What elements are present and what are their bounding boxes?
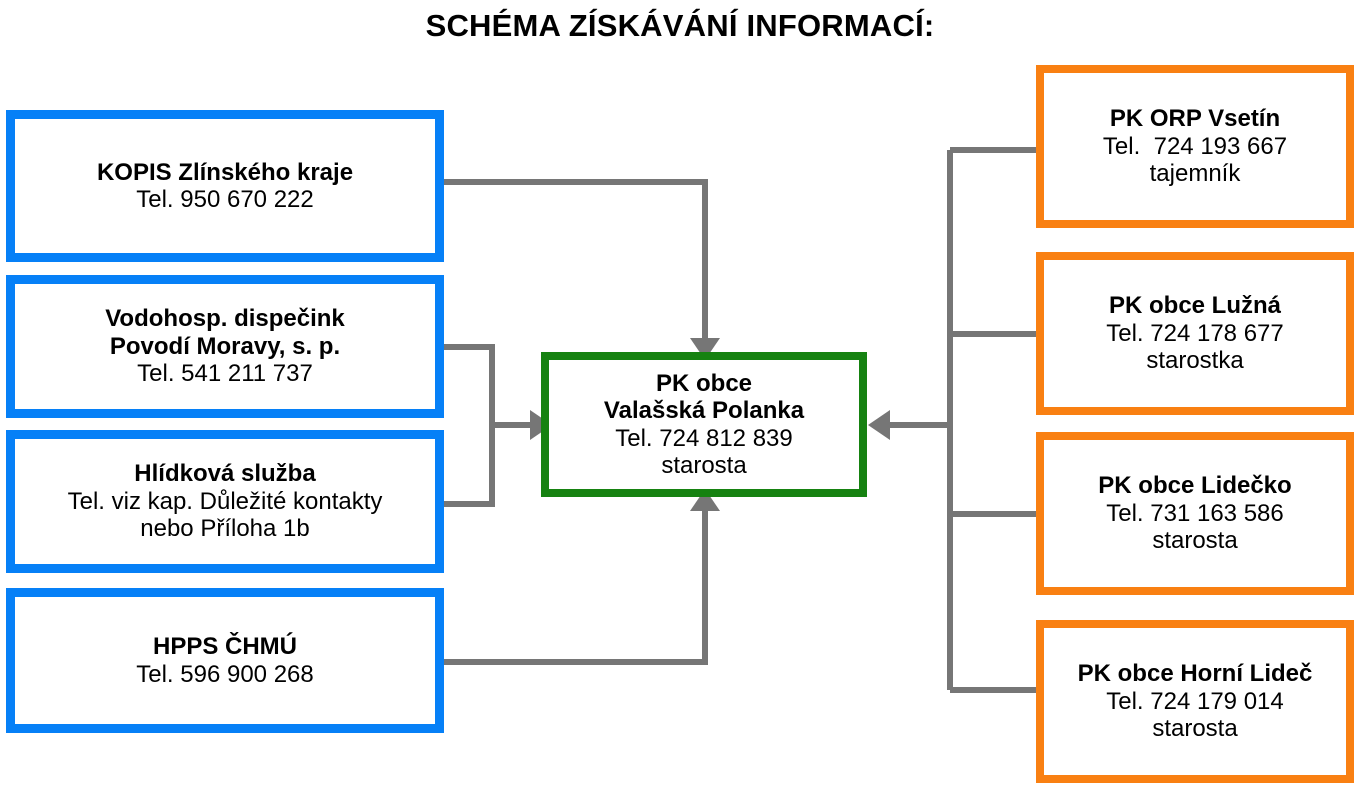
connector-hlidkova-to-bus: [444, 425, 492, 504]
node-vodohosp-title-line2: Povodí Moravy, s. p.: [110, 333, 340, 360]
node-hornilidec-phone: Tel. 724 179 014: [1106, 688, 1283, 715]
connector-vodohosp-to-bus: [444, 347, 492, 425]
diagram-canvas: SCHÉMA ZÍSKÁVÁNÍ INFORMACÍ:: [0, 0, 1360, 787]
node-vsetin-phone: Tel. 724 193 667: [1103, 133, 1287, 160]
node-vsetin-role: tajemník: [1150, 160, 1241, 187]
node-kopis[interactable]: KOPIS Zlínského kraje Tel. 950 670 222: [6, 110, 444, 262]
node-center-title-line1: PK obce: [656, 370, 752, 397]
node-hlidkova[interactable]: Hlídková služba Tel. viz kap. Důležité k…: [6, 430, 444, 573]
node-hlidkova-phone-line1: Tel. viz kap. Důležité kontakty: [68, 488, 383, 515]
node-hpps-phone: Tel. 596 900 268: [136, 661, 313, 688]
page-title: SCHÉMA ZÍSKÁVÁNÍ INFORMACÍ:: [0, 8, 1360, 44]
node-lidecko-phone: Tel. 731 163 586: [1106, 500, 1283, 527]
node-lidecko[interactable]: PK obce Lidečko Tel. 731 163 586 starost…: [1036, 432, 1354, 595]
connector-hpps-to-center: [444, 511, 705, 662]
node-luzna[interactable]: PK obce Lužná Tel. 724 178 677 starostka: [1036, 252, 1354, 415]
node-hpps-title: HPPS ČHMÚ: [153, 633, 297, 660]
node-hornilidec[interactable]: PK obce Horní Lideč Tel. 724 179 014 sta…: [1036, 620, 1354, 783]
node-hlidkova-phone-line2: nebo Příloha 1b: [140, 515, 309, 542]
node-hornilidec-title: PK obce Horní Lideč: [1078, 660, 1313, 687]
node-luzna-title: PK obce Lužná: [1109, 292, 1281, 319]
node-lidecko-title: PK obce Lidečko: [1098, 472, 1291, 499]
node-vsetin[interactable]: PK ORP Vsetín Tel. 724 193 667 tajemník: [1036, 65, 1354, 228]
node-luzna-phone: Tel. 724 178 677: [1106, 320, 1283, 347]
node-center-role: starosta: [661, 452, 746, 479]
node-hlidkova-title: Hlídková služba: [134, 460, 315, 487]
node-center-valasska-polanka[interactable]: PK obce Valašská Polanka Tel. 724 812 83…: [541, 352, 867, 497]
node-kopis-phone: Tel. 950 670 222: [136, 186, 313, 213]
node-vodohosp-phone: Tel. 541 211 737: [137, 360, 313, 387]
node-vodohosp-title-line1: Vodohosp. dispečink: [105, 305, 345, 332]
node-vodohosp[interactable]: Vodohosp. dispečink Povodí Moravy, s. p.…: [6, 275, 444, 418]
node-hornilidec-role: starosta: [1152, 715, 1237, 742]
node-hpps[interactable]: HPPS ČHMÚ Tel. 596 900 268: [6, 588, 444, 733]
node-lidecko-role: starosta: [1152, 527, 1237, 554]
node-vsetin-title: PK ORP Vsetín: [1110, 105, 1280, 132]
arrowhead-right-into-center: [868, 410, 890, 440]
node-center-phone: Tel. 724 812 839: [615, 425, 792, 452]
connector-kopis-to-center: [444, 182, 705, 338]
node-luzna-role: starostka: [1146, 347, 1243, 374]
node-kopis-title: KOPIS Zlínského kraje: [97, 159, 353, 186]
node-center-title-line2: Valašská Polanka: [604, 397, 804, 424]
